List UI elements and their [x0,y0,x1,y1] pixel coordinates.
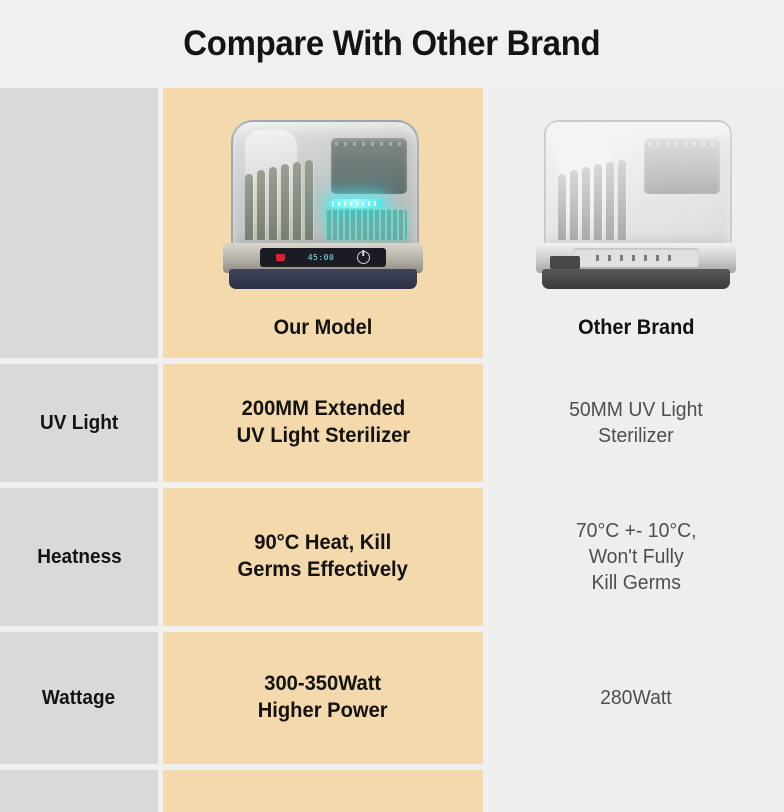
plate-rack [558,160,626,240]
plate [606,162,614,240]
comparison-page: Compare With Other Brand [0,0,784,786]
value-line: Germs Effectively [238,557,408,584]
value-line: Higher Power [258,698,388,725]
brand-badge-icon [276,254,285,261]
device-base [229,269,417,289]
value-line: Sterilizer [569,423,703,449]
sterilizer-device-other [536,118,736,293]
value-line: 70°C +- 10°C, [576,518,697,544]
our-model-cell-heatness: 90°C Heat, Kill Germs Effectively [163,488,483,626]
plate [245,174,253,240]
header-cell-feature [0,88,158,358]
sterilizer-device-ours: 45:00 [223,118,423,293]
value-line: Kill Germs [576,570,697,596]
our-model-value: 300-350Watt Higher Power [258,671,388,725]
header-cell-other-brand: Other Brand [488,88,784,358]
other-brand-cell-wattage: 280Watt [488,632,784,764]
header-cell-our-model: 45:00 Our Model [163,88,483,358]
value-line: 90°C Heat, Kill [238,530,408,557]
table-header-row: 45:00 Our Model [0,88,784,358]
page-title: Compare With Other Brand [183,24,600,64]
plate [594,164,602,240]
other-brand-cell-uv-light: 50MM UV Light Sterilizer [488,364,784,482]
control-panel-screen [573,248,699,267]
value-line: 280Watt [600,685,672,711]
feature-cell-heatness: Heatness [0,488,158,626]
plate [281,164,289,240]
lcd-timer-value: 45:00 [308,253,335,262]
plate [558,174,566,240]
utensil-basket [325,210,407,240]
uv-light-tube-icon [329,199,383,208]
other-brand-value: 50MM UV Light Sterilizer [569,397,703,449]
plate [293,162,301,240]
plate [570,170,578,240]
our-model-cell-partial [163,770,483,812]
other-brand-cell-heatness: 70°C +- 10°C, Won't Fully Kill Germs [488,488,784,626]
plate-rack [245,160,313,240]
our-model-value: 200MM Extended UV Light Sterilizer [236,396,410,450]
other-brand-value: 280Watt [600,685,672,711]
transparent-dome-lid [231,120,419,254]
table-row-partial [0,770,784,812]
table-row: Wattage 300-350Watt Higher Power 280Watt [0,632,784,764]
our-model-value: 90°C Heat, Kill Germs Effectively [238,530,408,584]
other-brand-value: 70°C +- 10°C, Won't Fully Kill Germs [576,518,697,596]
feature-cell-uv-light: UV Light [0,364,158,482]
value-line: UV Light Sterilizer [236,423,410,450]
other-brand-label: Other Brand [578,316,694,358]
feature-label: UV Light [40,412,118,435]
plate [582,167,590,240]
table-row: UV Light 200MM Extended UV Light Sterili… [0,364,784,482]
button-row-icon [596,255,676,261]
our-model-cell-wattage: 300-350Watt Higher Power [163,632,483,764]
feature-cell-partial [0,770,158,812]
plate [618,160,626,240]
our-model-label: Our Model [274,316,373,358]
our-model-cell-uv-light: 200MM Extended UV Light Sterilizer [163,364,483,482]
transparent-dome-lid [544,120,732,254]
plate [269,167,277,240]
bowl-rack [644,138,720,194]
comparison-table: 45:00 Our Model [0,88,784,812]
control-panel-screen: 45:00 [260,248,386,267]
device-base [542,269,730,289]
plate [257,170,265,240]
display-window [550,256,580,269]
value-line: 300-350Watt [258,671,388,698]
value-line: 200MM Extended [236,396,410,423]
feature-label: Wattage [42,687,115,710]
page-title-bar: Compare With Other Brand [0,0,784,88]
value-line: 50MM UV Light [569,397,703,423]
other-brand-product-image [488,88,784,316]
feature-label: Heatness [37,546,121,569]
our-model-product-image: 45:00 [163,88,483,316]
feature-cell-wattage: Wattage [0,632,158,764]
bowl-rack [331,138,407,194]
power-icon [357,251,370,264]
value-line: Won't Fully [576,544,697,570]
plate [305,160,313,240]
other-brand-cell-partial [488,770,784,812]
table-row: Heatness 90°C Heat, Kill Germs Effective… [0,488,784,626]
